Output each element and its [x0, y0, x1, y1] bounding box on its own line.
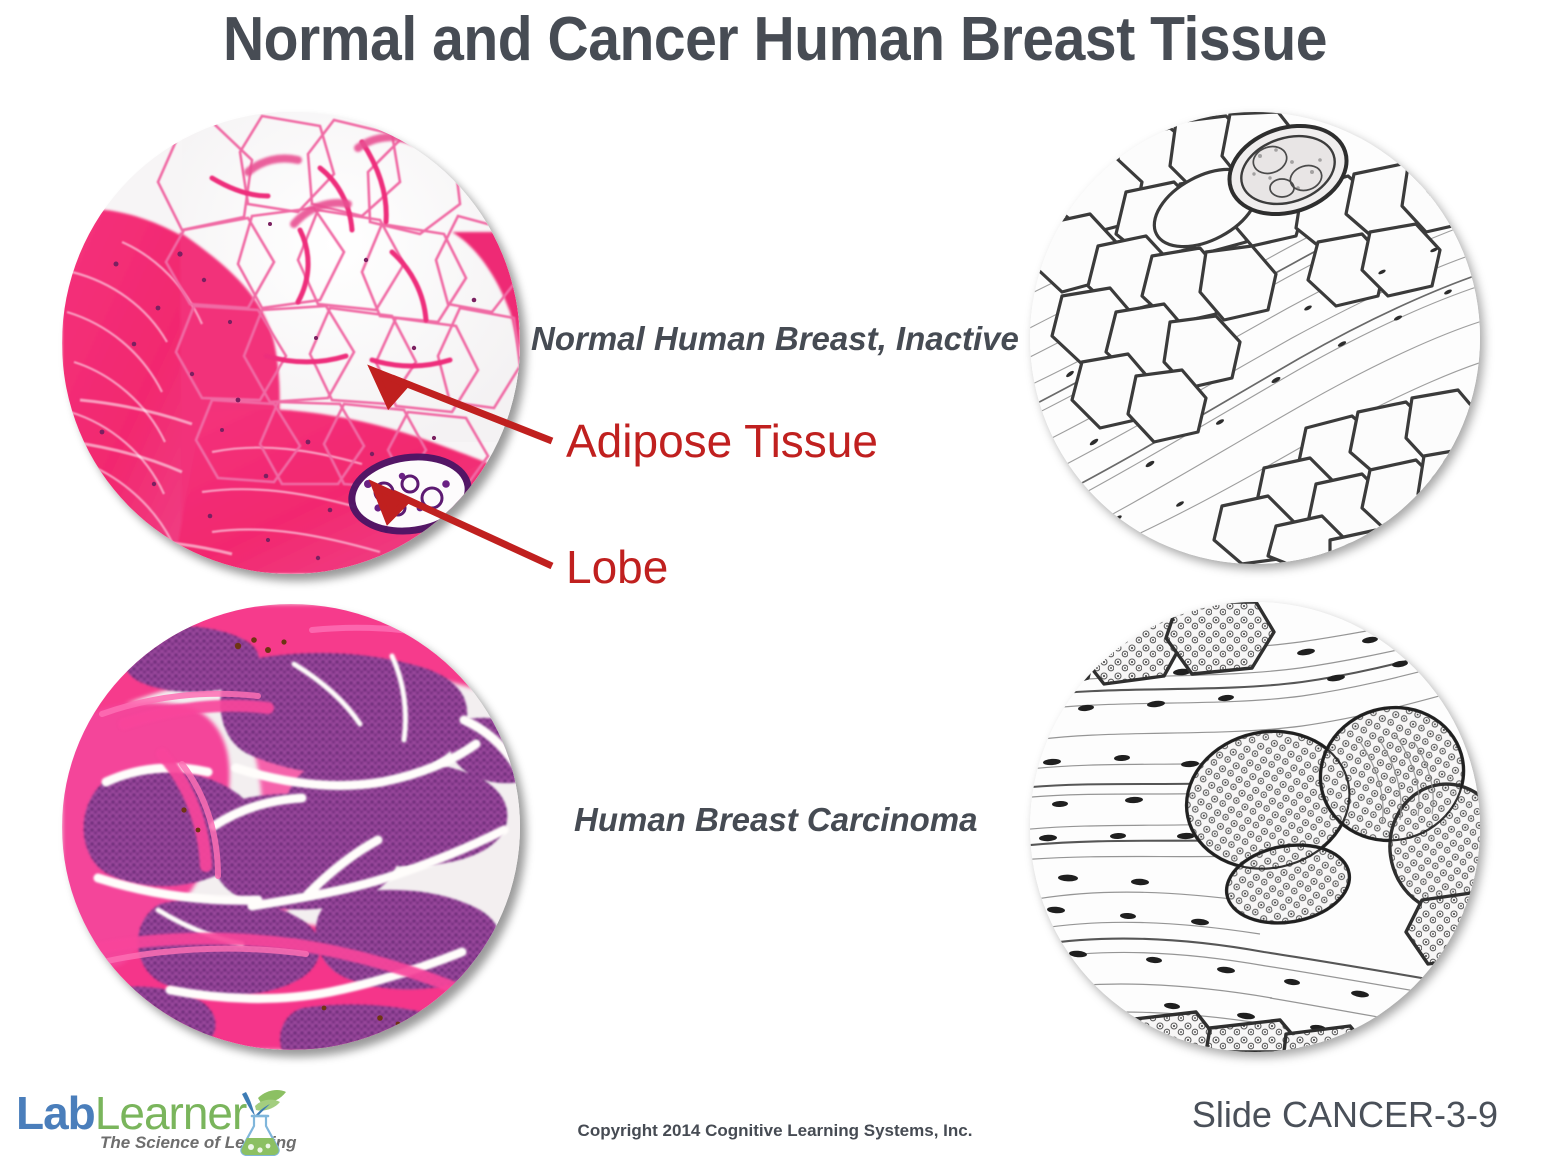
normal-breast-photomicrograph	[62, 112, 520, 574]
carcinoma-photomicrograph	[62, 604, 520, 1050]
carcinoma-drawing-art	[1030, 602, 1480, 1052]
normal-breast-drawing-art	[1030, 112, 1480, 564]
adipose-tissue-annotation-label: Adipose Tissue	[566, 414, 878, 468]
slide-number: Slide CANCER-3-9	[1192, 1094, 1498, 1136]
lobe-annotation-label: Lobe	[566, 540, 668, 594]
normal-breast-line-drawing	[1030, 112, 1480, 564]
page-title: Normal and Cancer Human Breast Tissue	[62, 4, 1488, 75]
normal-breast-tissue-art	[62, 112, 520, 574]
normal-breast-caption: Normal Human Breast, Inactive	[531, 320, 1019, 358]
carcinoma-caption: Human Breast Carcinoma	[574, 801, 977, 839]
carcinoma-tissue-art	[62, 604, 520, 1050]
carcinoma-line-drawing	[1030, 602, 1480, 1052]
